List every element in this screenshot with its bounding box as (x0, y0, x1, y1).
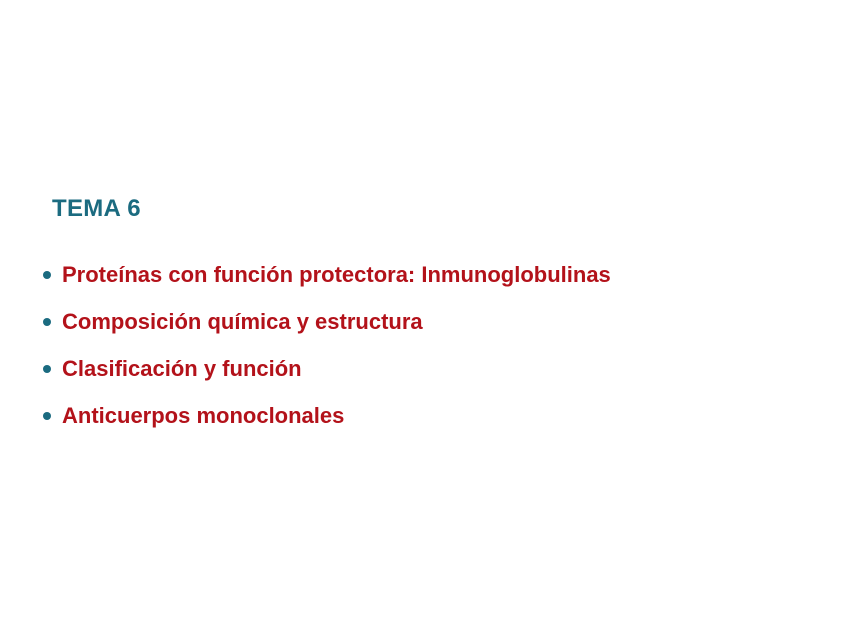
list-item: Clasificación y función (40, 352, 800, 386)
list-item-label: Proteínas con función protectora: Inmuno… (62, 258, 611, 292)
list-item: Anticuerpos monoclonales (40, 399, 800, 433)
bullet-dot-icon (43, 365, 51, 373)
bullet-dot-icon (43, 412, 51, 420)
bullet-dot-icon (43, 318, 51, 326)
list-item-label: Composición química y estructura (62, 305, 423, 339)
list-item: Proteínas con función protectora: Inmuno… (40, 258, 800, 292)
list-item: Composición química y estructura (40, 305, 800, 339)
list-item-label: Anticuerpos monoclonales (62, 399, 344, 433)
presentation-slide: TEMA 6 Proteínas con función protectora:… (0, 0, 848, 636)
list-item-label: Clasificación y función (62, 352, 302, 386)
bullet-dot-icon (43, 271, 51, 279)
topic-list: Proteínas con función protectora: Inmuno… (40, 258, 800, 433)
page-title: TEMA 6 (52, 195, 141, 223)
